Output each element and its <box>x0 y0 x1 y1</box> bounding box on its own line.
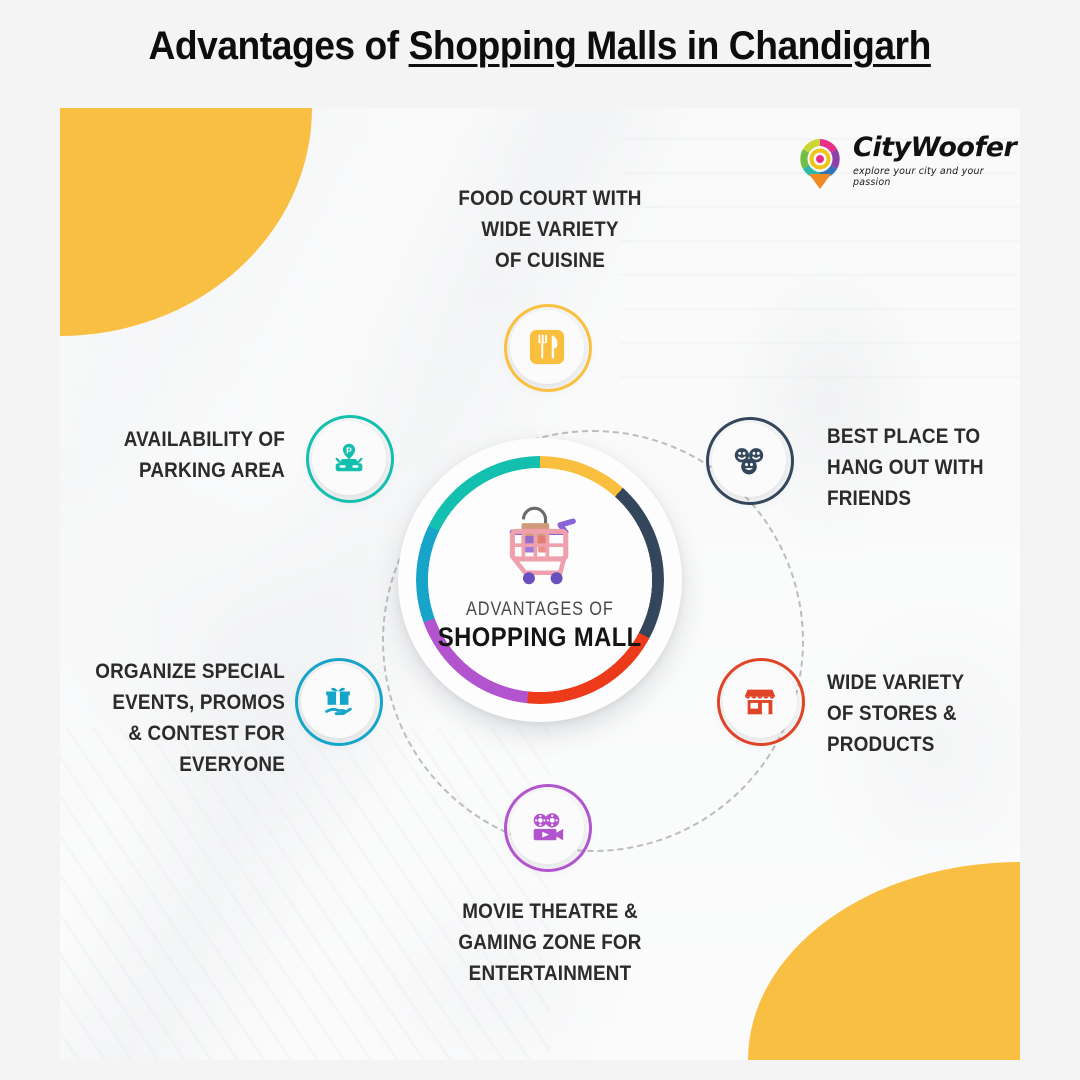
logo-tagline: explore your city and your passion <box>853 166 1016 188</box>
storefront-icon <box>741 682 779 720</box>
title-plain: Advantages of <box>149 24 409 68</box>
spiral-pin-icon <box>793 134 847 192</box>
center-disc: ADVANTAGES OF SHOPPING MALL <box>398 438 682 722</box>
car-parking-icon: P <box>330 439 368 477</box>
badge-movie-gaming[interactable] <box>510 790 584 864</box>
page-title: Advantages of Shopping Malls in Chandiga… <box>0 24 1080 69</box>
badge-food-court[interactable] <box>510 310 584 384</box>
center-inner-disc: ADVANTAGES OF SHOPPING MALL <box>428 468 652 692</box>
center-line1: ADVANTAGES OF <box>466 599 614 621</box>
badge-parking-area[interactable]: P <box>312 421 386 495</box>
page-title-text: Advantages of Shopping Malls in Chandiga… <box>149 24 931 69</box>
logo-text: CityWoofer explore your city and your pa… <box>853 132 1016 188</box>
badge-hangout-friends[interactable] <box>712 423 786 497</box>
title-underlined: Shopping Malls in Chandigarh <box>409 24 931 68</box>
citywoofer-logo[interactable]: CityWoofer explore your city and your pa… <box>793 132 993 194</box>
smiley-faces-icon <box>730 441 768 479</box>
svg-text:P: P <box>346 446 352 456</box>
label-movie-gaming: MOVIE THEATRE & GAMING ZONE FOR ENTERTAI… <box>415 896 685 989</box>
label-parking-area: AVAILABILITY OF PARKING AREA <box>78 424 285 486</box>
label-food-court: FOOD COURT WITH WIDE VARIETY OF CUISINE <box>415 183 685 276</box>
badge-events-promos[interactable] <box>301 664 375 738</box>
infographic-page: Advantages of Shopping Malls in Chandiga… <box>0 0 1080 1080</box>
cutlery-icon <box>528 328 566 366</box>
infographic-card: CityWoofer explore your city and your pa… <box>60 108 1020 1060</box>
badge-variety-stores[interactable] <box>723 664 797 738</box>
gift-in-hand-icon <box>319 682 357 720</box>
label-events-promos: ORGANIZE SPECIAL EVENTS, PROMOS & CONTES… <box>78 656 285 780</box>
label-hangout-friends: BEST PLACE TO HANG OUT WITH FRIENDS <box>827 421 1020 514</box>
shopping-cart-3d-icon <box>494 501 586 593</box>
logo-name: CityWoofer <box>853 132 1016 164</box>
label-variety-stores: WIDE VARIETY OF STORES & PRODUCTS <box>827 667 1020 760</box>
movie-camera-icon <box>528 808 566 846</box>
center-line2: SHOPPING MALL <box>438 622 642 653</box>
